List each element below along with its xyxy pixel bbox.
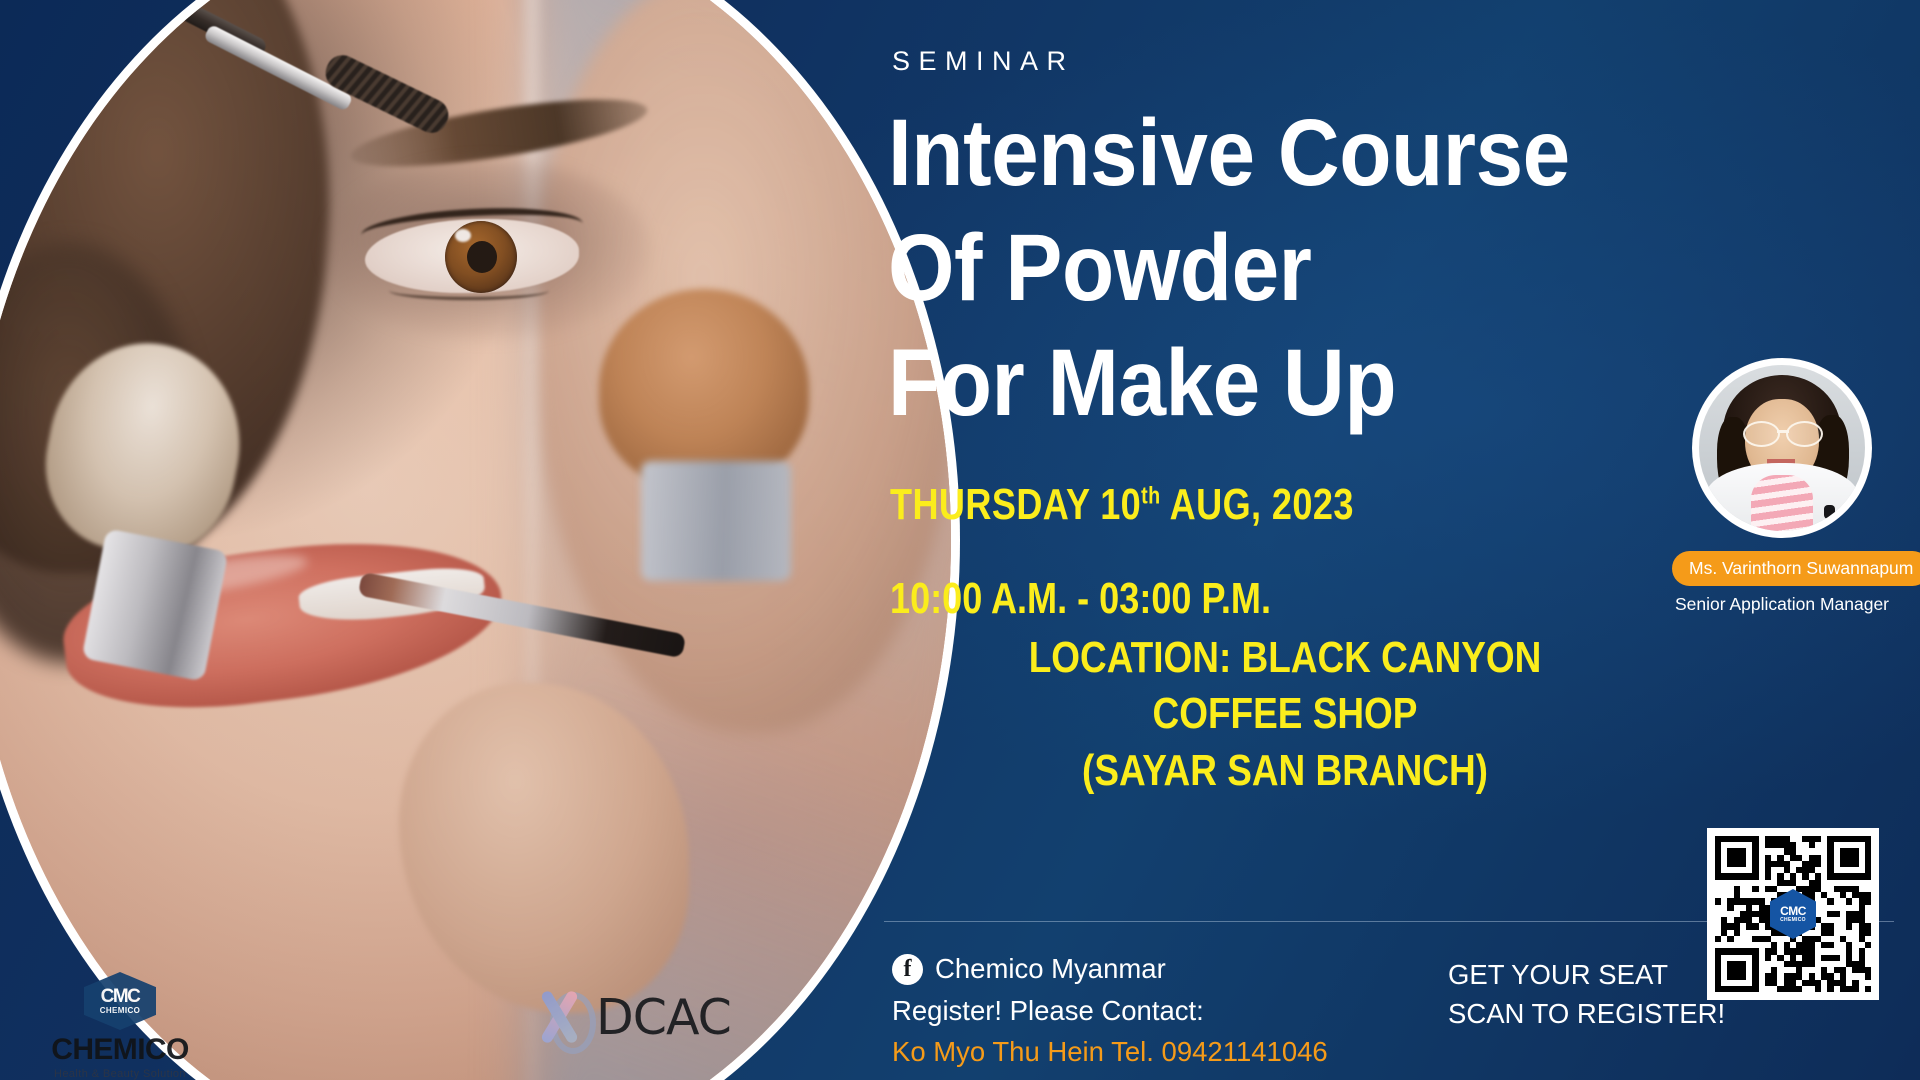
title-line-1: Intensive Course xyxy=(888,96,1806,211)
photo-clip xyxy=(0,0,951,1080)
event-meta: THURSDAY 10th AUG, 2023 10:00 A.M. - 03:… xyxy=(890,480,1790,624)
facebook-page-name: Chemico Myanmar xyxy=(935,950,1166,989)
location-line-2: (SAYAR SAN BRANCH) xyxy=(953,743,1617,799)
speaker-lapel-mic-icon xyxy=(1824,505,1835,519)
event-date-day: THURSDAY 10 xyxy=(890,480,1141,529)
contact-block: f Chemico Myanmar Register! Please Conta… xyxy=(892,950,1452,1072)
speaker-striped-shirt xyxy=(1751,475,1813,531)
location-line-1: LOCATION: BLACK CANYON COFFEE SHOP xyxy=(953,630,1617,743)
speaker-role: Senior Application Manager xyxy=(1672,594,1892,615)
chemico-badge-sub: CHEMICO xyxy=(100,1007,141,1015)
facebook-icon: f xyxy=(892,954,923,985)
photo-color-grade xyxy=(0,0,951,1080)
title-line-2: Of Powder xyxy=(888,211,1806,326)
hero-photo xyxy=(0,0,960,1080)
poster-title: Intensive Course Of Powder For Make Up xyxy=(888,96,1806,441)
event-date: THURSDAY 10th AUG, 2023 xyxy=(890,480,1628,530)
qr-logo-sub: CHEMICO xyxy=(1780,918,1806,923)
speaker-name-badge: Ms. Varinthorn Suwannapum xyxy=(1672,551,1920,586)
title-line-3: For Make Up xyxy=(888,326,1806,441)
event-date-ordinal: th xyxy=(1141,482,1160,509)
chemico-wordmark: CHEMICO xyxy=(30,1035,210,1065)
qr-code[interactable]: CMC CHEMICO xyxy=(1707,828,1879,1000)
chemico-badge-word: CMC xyxy=(101,987,140,1006)
chemico-hex-badge-icon: CMC CHEMICO xyxy=(84,972,156,1030)
chemico-tagline: Health & Beauty Solution xyxy=(30,1068,210,1080)
poster-kicker: SEMINAR xyxy=(892,46,1075,77)
dcac-wordmark: DCAC xyxy=(596,993,731,1042)
seminar-poster: CMC CHEMICO CHEMICO Health & Beauty Solu… xyxy=(0,0,1920,1080)
event-time: 10:00 A.M. - 03:00 P.M. xyxy=(890,574,1628,624)
dcac-logo: DCAC xyxy=(528,986,731,1048)
event-date-month-year: AUG, 2023 xyxy=(1170,480,1354,529)
speaker-lens-right xyxy=(1786,421,1823,447)
makeup-application-photo xyxy=(0,0,951,1080)
contact-person: Ko Myo Thu Hein Tel. 09421141046 xyxy=(892,1033,1452,1072)
chemico-logo: CMC CHEMICO CHEMICO Health & Beauty Solu… xyxy=(30,972,210,1080)
speaker-card: Ms. Varinthorn Suwannapum Senior Applica… xyxy=(1672,358,1892,615)
speaker-glasses-icon xyxy=(1741,421,1825,443)
scan-callout: GET YOUR SEAT SCAN TO REGISTER! xyxy=(1448,955,1748,1033)
qr-logo-word: CMC xyxy=(1780,905,1806,917)
scan-callout-line-1: GET YOUR SEAT xyxy=(1448,955,1748,994)
facebook-row[interactable]: f Chemico Myanmar xyxy=(892,950,1452,989)
speaker-avatar xyxy=(1692,358,1872,538)
register-line: Register! Please Contact: xyxy=(892,992,1452,1031)
speaker-portrait-image xyxy=(1699,365,1865,531)
dcac-ribbon-icon xyxy=(528,986,590,1048)
event-location: LOCATION: BLACK CANYON COFFEE SHOP (SAYA… xyxy=(890,630,1680,799)
speaker-lens-left xyxy=(1743,421,1780,447)
scan-callout-line-2: SCAN TO REGISTER! xyxy=(1448,994,1748,1033)
